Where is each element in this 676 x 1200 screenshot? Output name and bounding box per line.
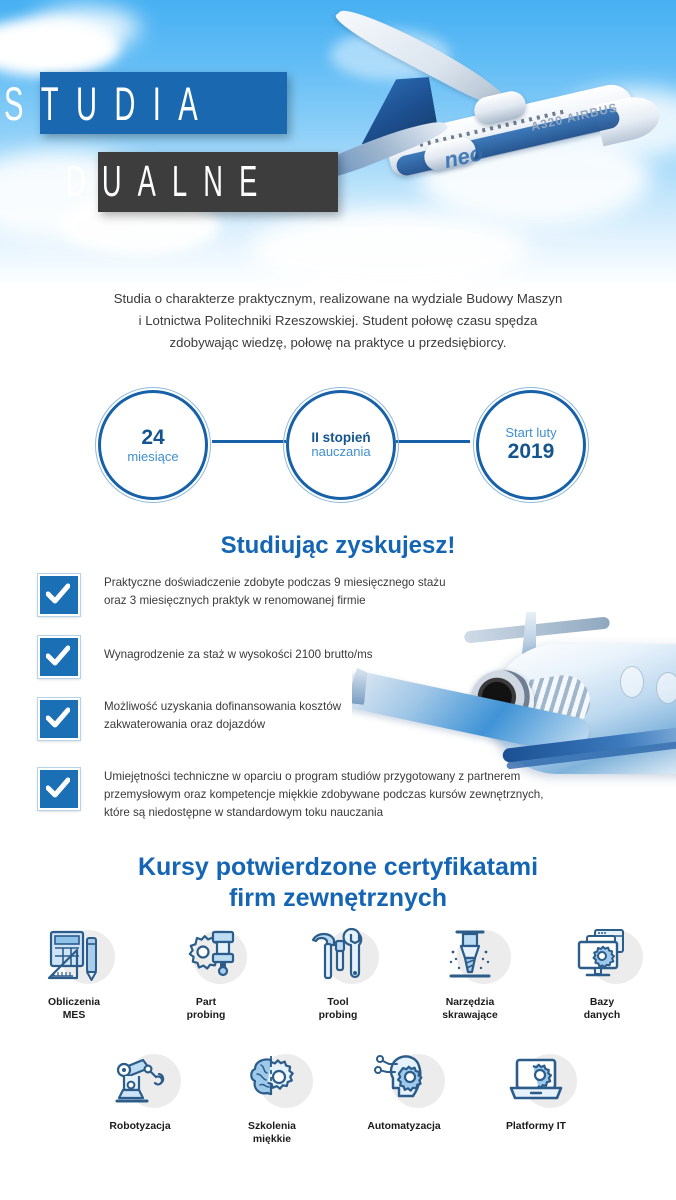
badge-connector-left: [212, 440, 286, 443]
benefit-text: Możliwość uzyskania dofinansowania koszt…: [104, 698, 341, 734]
calculator-ruler-pencil-icon: [29, 920, 119, 992]
benefit-item: Praktyczne doświadczenie zdobyte podczas…: [38, 574, 446, 616]
intro-line-2: i Lotnictwa Politechniki Rzeszowskiej. S…: [78, 310, 598, 332]
benefits-list: Praktyczne doświadczenie zdobyte podczas…: [0, 574, 676, 834]
course-item[interactable]: Automatyzacja: [359, 1044, 449, 1146]
badge-start-year: 2019: [508, 440, 555, 464]
benefit-text: Wynagrodzenie za staż w wysokości 2100 b…: [104, 636, 373, 664]
courses-title-line-1: Kursy potwierdzone certyfikatami: [0, 852, 676, 883]
milling-cutter-icon: [425, 920, 515, 992]
intro-line-1: Studia o charakterze praktycznym, realiz…: [78, 288, 598, 310]
course-label-line-1: Tool: [293, 996, 383, 1009]
checkmark-icon: [38, 574, 80, 616]
badge-duration-value: 24: [141, 426, 164, 450]
benefit-item: Możliwość uzyskania dofinansowania koszt…: [38, 698, 341, 740]
course-label-line-1: Narzędzia: [425, 996, 515, 1009]
course-label: Narzędzia skrawające: [425, 996, 515, 1022]
course-label-line-1: Platformy IT: [491, 1120, 581, 1133]
title-banner-studia: STUDIA: [40, 72, 287, 134]
intro-paragraph: Studia o charakterze praktycznym, realiz…: [78, 288, 598, 354]
benefit-item: Umiejętności techniczne w oparciu o prog…: [38, 768, 543, 822]
course-label-line-1: Robotyzacja: [95, 1120, 185, 1133]
checkmark-icon: [38, 636, 80, 678]
title-banner-dualne: DUALNE: [98, 152, 338, 212]
robot-arm-icon: [95, 1044, 185, 1116]
course-label-line-2: MES: [29, 1009, 119, 1022]
badge-degree-level: II stopień: [311, 430, 370, 445]
intro-line-3: zdobywając wiedzę, połowę na praktyce u …: [78, 332, 598, 354]
cloud-shape: [30, 6, 140, 50]
course-item[interactable]: Obliczenia MES: [29, 920, 119, 1022]
benefit-line: przemysłowym oraz kompetencje miękkie zd…: [104, 786, 543, 804]
course-item[interactable]: Robotyzacja: [95, 1044, 185, 1146]
courses-title-line-2: firm zewnętrznych: [0, 883, 676, 914]
course-label-line-1: Part: [161, 996, 251, 1009]
title-text-dualne: DUALNE: [66, 157, 273, 207]
badge-duration: 24 miesiące: [98, 390, 208, 500]
course-label-line-1: Automatyzacja: [359, 1120, 449, 1133]
badge-start-label: Start luty: [505, 426, 556, 441]
infographic-page: A320 AIRBUS neo STUDIA DUALNE Studia o c…: [0, 0, 676, 1200]
checkmark-icon: [38, 768, 80, 810]
benefits-section-title: Studiując zyskujesz!: [0, 532, 676, 560]
badge-start-date: Start luty 2019: [476, 390, 586, 500]
course-label-line-2: miękkie: [227, 1133, 317, 1146]
badge-duration-unit: miesiące: [127, 450, 178, 465]
course-label: Automatyzacja: [359, 1120, 449, 1133]
title-text-studia: STUDIA: [4, 76, 215, 131]
course-label-line-2: probing: [161, 1009, 251, 1022]
courses-section-title: Kursy potwierdzone certyfikatami firm ze…: [0, 852, 676, 914]
badge-connector-right: [396, 440, 470, 443]
course-item[interactable]: Tool probing: [293, 920, 383, 1022]
course-item[interactable]: Bazy danych: [557, 920, 647, 1022]
hammer-wrench-screwdriver-icon: [293, 920, 383, 992]
course-label-line-2: probing: [293, 1009, 383, 1022]
badge-degree: II stopień nauczania: [286, 390, 396, 500]
course-label: Bazy danych: [557, 996, 647, 1022]
course-label: Obliczenia MES: [29, 996, 119, 1022]
course-label: Platformy IT: [491, 1120, 581, 1133]
courses-grid: Obliczenia MES: [0, 920, 676, 1146]
gear-probe-icon: [161, 920, 251, 992]
course-item[interactable]: Szkolenia miękkie: [227, 1044, 317, 1146]
benefit-line: które są niedostępne w standardowym toku…: [104, 804, 543, 822]
laptop-gear-icon: [491, 1044, 581, 1116]
course-label-line-1: Obliczenia: [29, 996, 119, 1009]
course-label-line-2: danych: [557, 1009, 647, 1022]
benefit-line: oraz 3 miesięcznych praktyk w renomowane…: [104, 592, 446, 610]
monitor-gear-icon: [557, 920, 647, 992]
benefit-text: Praktyczne doświadczenie zdobyte podczas…: [104, 574, 446, 610]
benefit-line: Praktyczne doświadczenie zdobyte podczas…: [104, 574, 446, 592]
benefit-line: Umiejętności techniczne w oparciu o prog…: [104, 768, 543, 786]
course-item[interactable]: Part probing: [161, 920, 251, 1022]
course-label: Tool probing: [293, 996, 383, 1022]
brain-gear-icon: [227, 1044, 317, 1116]
course-label-line-1: Szkolenia: [227, 1120, 317, 1133]
badge-degree-label: nauczania: [311, 445, 370, 460]
benefit-text: Umiejętności techniczne w oparciu o prog…: [104, 768, 543, 822]
checkmark-icon: [38, 698, 80, 740]
benefit-line: Możliwość uzyskania dofinansowania koszt…: [104, 698, 341, 716]
course-label-line-1: Bazy: [557, 996, 647, 1009]
hero-section: A320 AIRBUS neo STUDIA DUALNE: [0, 0, 676, 290]
benefit-item: Wynagrodzenie za staż w wysokości 2100 b…: [38, 636, 373, 678]
course-label: Robotyzacja: [95, 1120, 185, 1133]
courses-row-2: Robotyzacja: [0, 1044, 676, 1146]
courses-row-1: Obliczenia MES: [0, 920, 676, 1022]
head-gear-circuit-icon: [359, 1044, 449, 1116]
benefit-line: Wynagrodzenie za staż w wysokości 2100 b…: [104, 646, 373, 664]
course-label: Szkolenia miękkie: [227, 1120, 317, 1146]
course-label-line-2: skrawające: [425, 1009, 515, 1022]
benefit-line: zakwaterowania oraz dojazdów: [104, 716, 341, 734]
course-item[interactable]: Narzędzia skrawające: [425, 920, 515, 1022]
badge-row: 24 miesiące II stopień nauczania Start l…: [0, 388, 676, 500]
course-item[interactable]: Platformy IT: [491, 1044, 581, 1146]
course-label: Part probing: [161, 996, 251, 1022]
